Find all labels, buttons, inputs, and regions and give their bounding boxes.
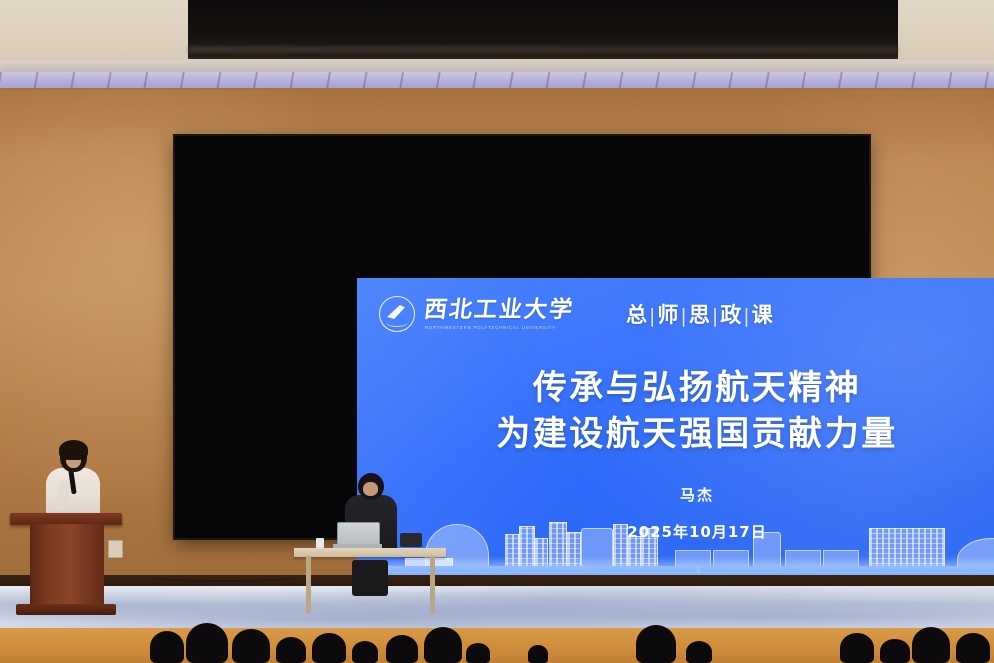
audience-head [528, 645, 548, 663]
audience-head [232, 629, 270, 663]
slide-title: 传承与弘扬航天精神 为建设航天强国贡献力量 [357, 366, 994, 457]
slide-header: 西北工业大学 NORTHWESTERN POLYTECHNICAL UNIVER… [379, 292, 994, 336]
university-name-block: 西北工业大学 NORTHWESTERN POLYTECHNICAL UNIVER… [415, 299, 574, 330]
auditorium-scene: 西北工业大学 NORTHWESTERN POLYTECHNICAL UNIVER… [0, 0, 994, 663]
presenter-name: 马杰 [357, 484, 994, 505]
chair [352, 560, 388, 596]
floor-cable [150, 572, 300, 582]
audience-head [186, 623, 228, 663]
control-table-top [294, 548, 446, 557]
university-logo: 西北工业大学 NORTHWESTERN POLYTECHNICAL UNIVER… [379, 296, 574, 332]
audience-head [880, 639, 910, 663]
badge-char-2: 思 [689, 303, 711, 327]
audience-head [912, 627, 950, 663]
audience-head [150, 631, 184, 663]
speaker-hair [59, 440, 88, 460]
badge-sep-3: | [742, 305, 751, 327]
audience-head [276, 637, 306, 663]
badge-char-1: 师 [657, 303, 679, 327]
university-name-en: NORTHWESTERN POLYTECHNICAL UNIVERSITY [425, 325, 574, 330]
projection-screen-bezel: 西北工业大学 NORTHWESTERN POLYTECHNICAL UNIVER… [175, 136, 869, 538]
badge-char-0: 总 [626, 303, 648, 327]
audience-silhouettes [0, 596, 994, 663]
audience-head [840, 633, 874, 663]
audience-head [466, 643, 490, 663]
program-badge: 总|师|思|政|课 [626, 299, 774, 329]
audience-head [424, 627, 462, 663]
badge-sep-1: | [679, 305, 688, 327]
title-line-2: 为建设航天强国贡献力量 [357, 412, 994, 458]
ceiling-dark-panel [188, 0, 898, 59]
university-name-cn: 西北工业大学 [423, 299, 576, 322]
operator-face [363, 482, 378, 496]
badge-sep-2: | [711, 305, 720, 327]
desk-equipment [400, 533, 422, 547]
badge-char-4: 课 [752, 303, 774, 327]
badge-sep-0: | [648, 305, 657, 327]
audience-head [956, 633, 990, 663]
badge-char-3: 政 [720, 303, 742, 327]
audience-head [636, 625, 676, 663]
desk-cup [316, 538, 324, 548]
audience-head [686, 641, 712, 663]
audience-head [386, 635, 418, 663]
nwpu-emblem-icon [379, 296, 415, 332]
title-line-1: 传承与弘扬航天精神 [357, 366, 994, 412]
audience-head [352, 641, 378, 663]
wall-outlet [108, 540, 123, 558]
audience-head [312, 633, 346, 663]
